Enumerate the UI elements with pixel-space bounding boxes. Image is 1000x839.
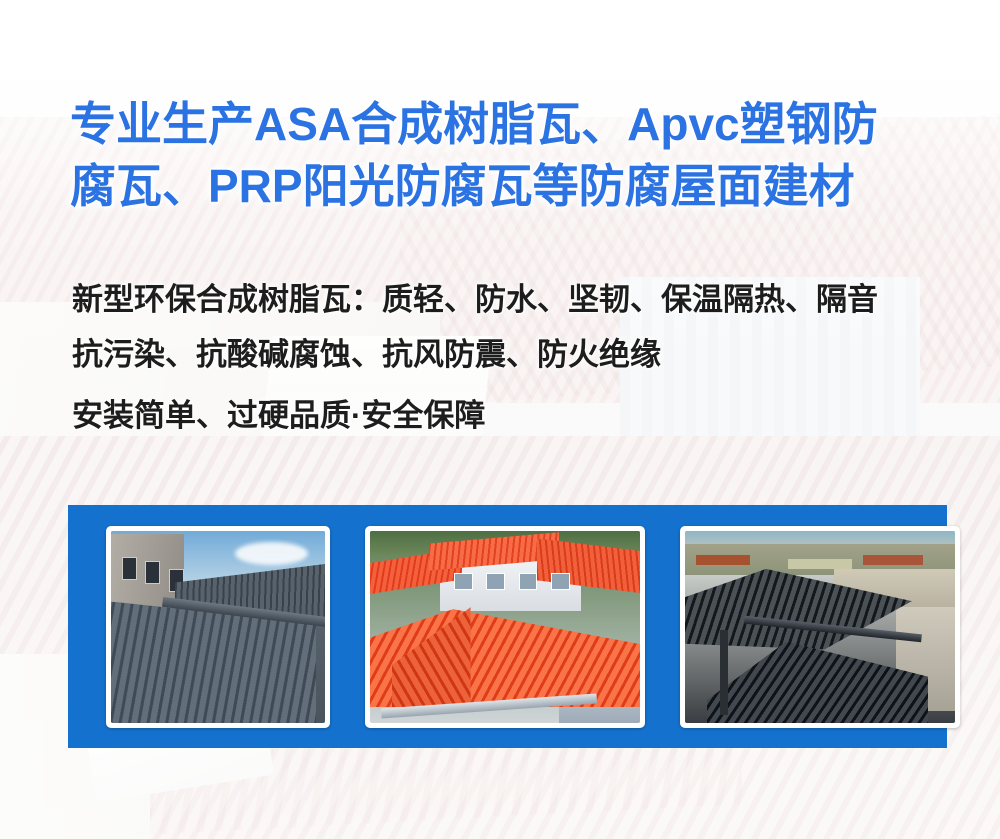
photo3-village-roof <box>696 555 750 565</box>
photo1-window <box>145 561 160 584</box>
photo-grey-resin-tile-roof <box>111 531 325 723</box>
photo2-window <box>486 573 505 590</box>
photo1-cloud <box>235 542 308 565</box>
photo-red-resin-tile-roof <box>370 531 640 723</box>
headline-line-1: 专业生产ASA合成树脂瓦、Apvc塑钢防 <box>70 93 950 155</box>
photo3-support-post <box>720 630 728 714</box>
photo-gallery-panel <box>68 505 947 748</box>
photo-black-resin-tile-roof <box>685 531 955 723</box>
photo3-village-roof <box>863 555 922 565</box>
feature-line-1: 新型环保合成树脂瓦：质轻、防水、坚韧、保温隔热、隔音 <box>72 272 962 327</box>
headline: 专业生产ASA合成树脂瓦、Apvc塑钢防 腐瓦、PRP阳光防腐瓦等防腐屋面建材 <box>70 93 950 217</box>
photo2-window <box>454 573 473 590</box>
feature-line-3: 安装简单、过硬品质·安全保障 <box>72 388 962 443</box>
feature-line-2: 抗污染、抗酸碱腐蚀、抗风防震、防火绝缘 <box>72 327 962 382</box>
photo3-village-roof <box>788 559 853 569</box>
feature-list: 新型环保合成树脂瓦：质轻、防水、坚韧、保温隔热、隔音 抗污染、抗酸碱腐蚀、抗风防… <box>72 272 962 443</box>
photo2-window <box>551 573 570 590</box>
headline-line-2: 腐瓦、PRP阳光防腐瓦等防腐屋面建材 <box>70 155 950 217</box>
photo-frame-red-roof[interactable] <box>365 526 645 728</box>
photo-frame-black-roof[interactable] <box>680 526 960 728</box>
photo1-window <box>122 557 137 580</box>
photo-frame-grey-roof[interactable] <box>106 526 330 728</box>
photo2-window <box>519 573 538 590</box>
promo-banner: 专业生产ASA合成树脂瓦、Apvc塑钢防 腐瓦、PRP阳光防腐瓦等防腐屋面建材 … <box>0 0 1000 839</box>
banner-content: 专业生产ASA合成树脂瓦、Apvc塑钢防 腐瓦、PRP阳光防腐瓦等防腐屋面建材 … <box>0 0 1000 839</box>
